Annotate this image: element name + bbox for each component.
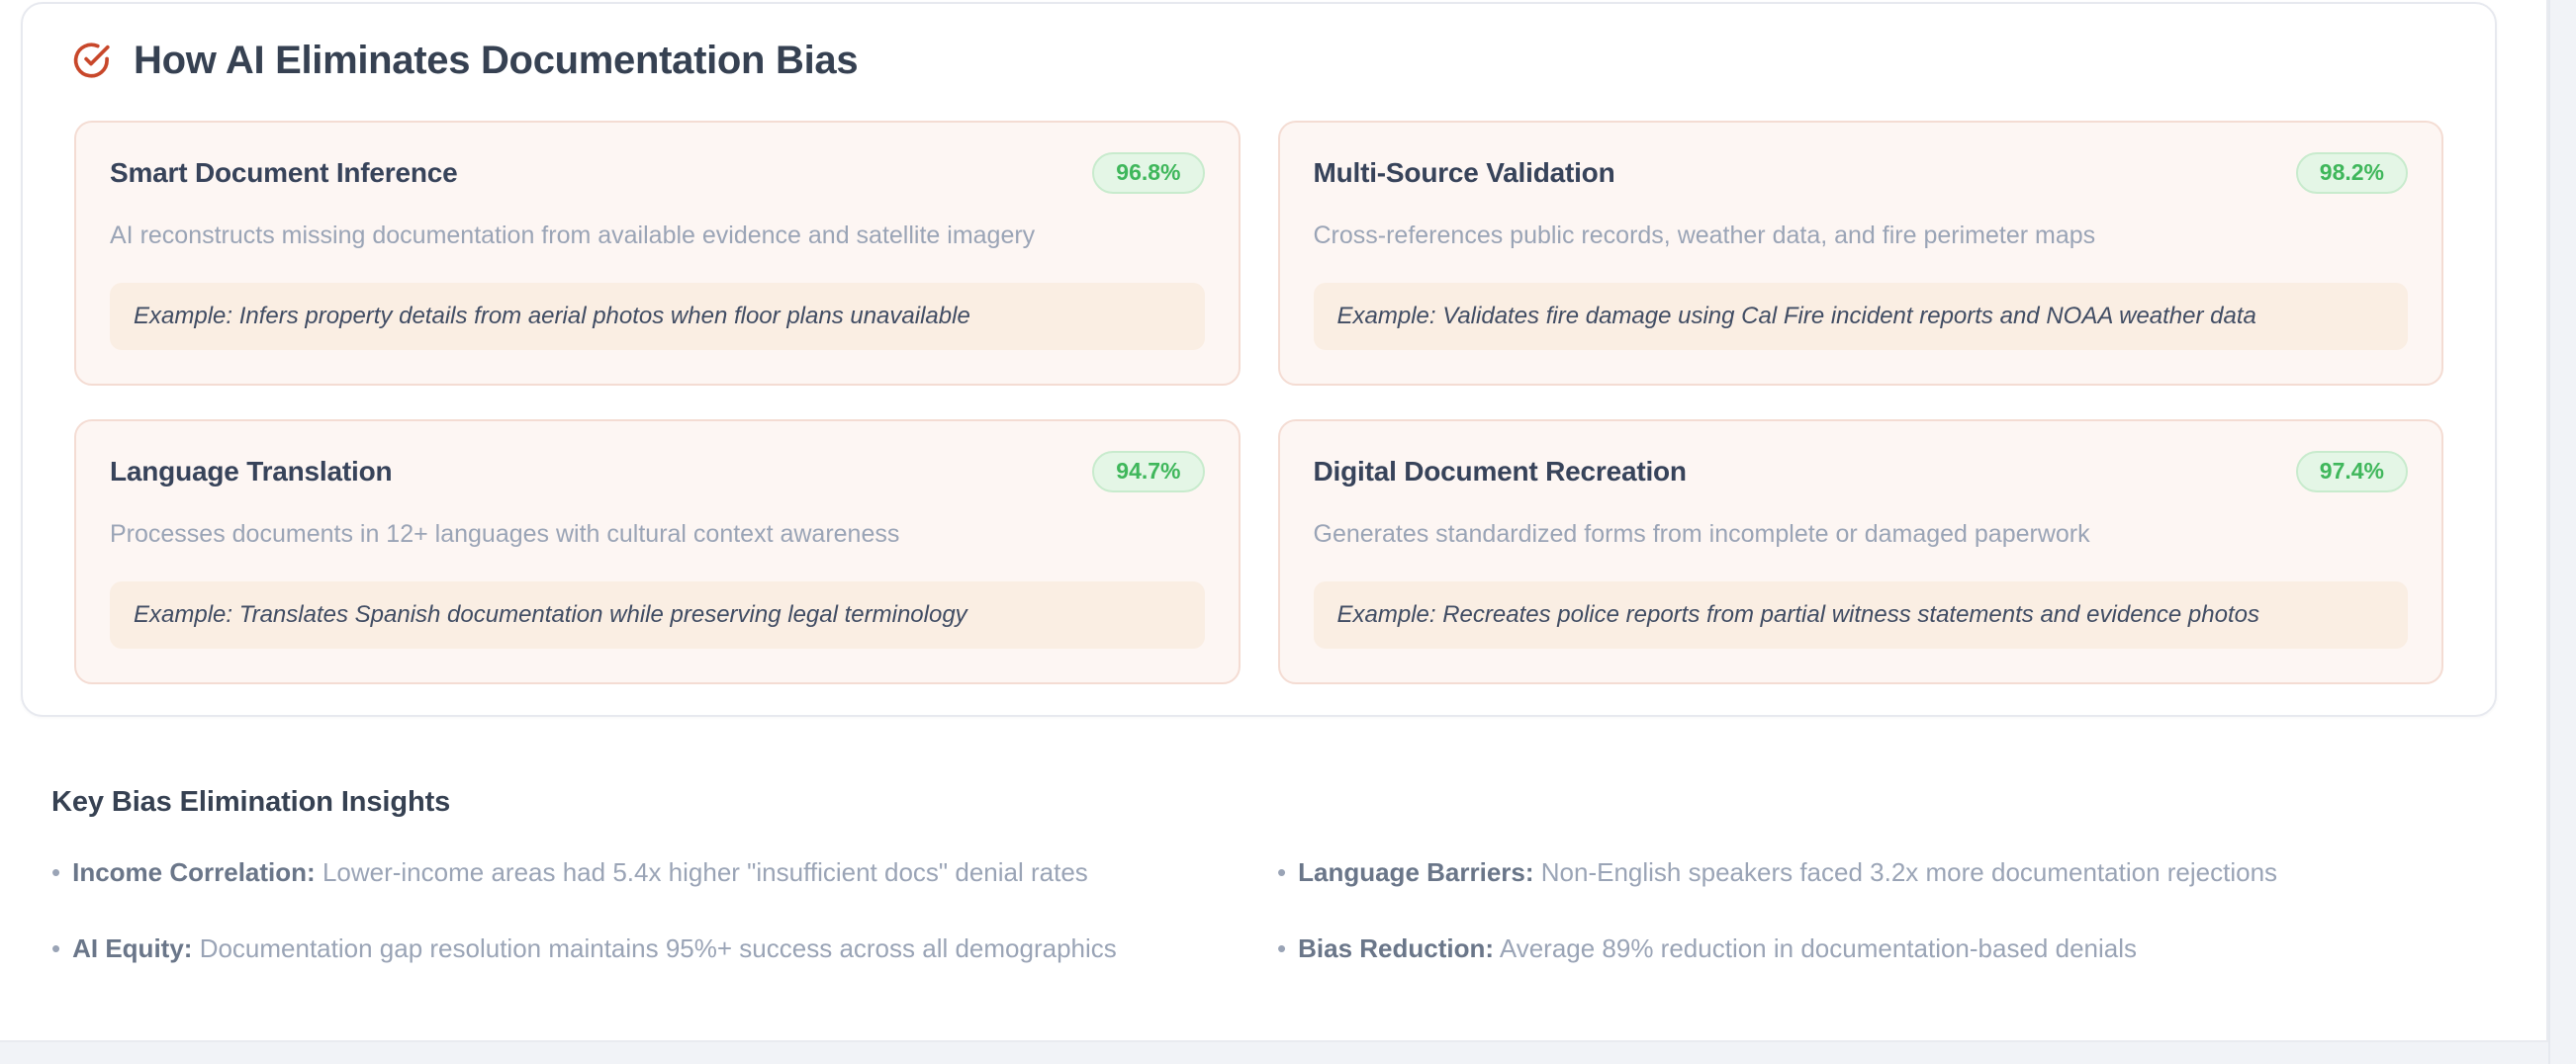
panel-header: How AI Eliminates Documentation Bias	[23, 4, 2495, 83]
insight-body: Bias Reduction: Average 89% reduction in…	[1298, 932, 2137, 965]
insight-detail: Average 89% reduction in documentation-b…	[1500, 933, 2137, 963]
documentation-bias-panel: How AI Eliminates Documentation Bias Sma…	[21, 2, 2497, 717]
capability-title: Smart Document Inference	[110, 156, 458, 190]
capability-example-text: Example: Infers property details from ae…	[134, 301, 1181, 331]
card-header: Multi-Source Validation 98.2%	[1314, 152, 2409, 194]
page-scrollbar-gutter[interactable]	[2548, 0, 2576, 1064]
capability-example-text: Example: Translates Spanish documentatio…	[134, 599, 1181, 630]
capability-example-text: Example: Validates fire damage using Cal…	[1337, 301, 2385, 331]
capability-title: Digital Document Recreation	[1314, 455, 1687, 488]
capability-example-box: Example: Recreates police reports from p…	[1314, 581, 2409, 649]
capability-description: Processes documents in 12+ languages wit…	[110, 518, 1205, 552]
insight-label: Language Barriers:	[1298, 857, 1533, 887]
bullet-icon: •	[1277, 859, 1286, 885]
capability-example-box: Example: Translates Spanish documentatio…	[110, 581, 1205, 649]
insight-label: Income Correlation:	[72, 857, 316, 887]
content-sheet: How AI Eliminates Documentation Bias Sma…	[0, 0, 2548, 1064]
insight-body: Income Correlation: Lower-income areas h…	[72, 856, 1088, 889]
insight-item: • Income Correlation: Lower-income areas…	[51, 856, 1230, 889]
insight-label: AI Equity:	[72, 933, 192, 963]
accuracy-badge: 94.7%	[1092, 451, 1204, 492]
capability-title: Multi-Source Validation	[1314, 156, 1615, 190]
accuracy-badge: 98.2%	[2296, 152, 2408, 194]
accuracy-badge: 96.8%	[1092, 152, 1204, 194]
capability-example-box: Example: Validates fire damage using Cal…	[1314, 283, 2409, 350]
insight-detail: Lower-income areas had 5.4x higher "insu…	[322, 857, 1088, 887]
capability-example-text: Example: Recreates police reports from p…	[1337, 599, 2385, 630]
insights-grid: • Income Correlation: Lower-income areas…	[51, 856, 2455, 964]
bottom-strip	[0, 1042, 2576, 1064]
bullet-icon: •	[1277, 935, 1286, 961]
bullet-icon: •	[51, 859, 60, 885]
capability-description: AI reconstructs missing documentation fr…	[110, 220, 1205, 253]
insight-detail: Documentation gap resolution maintains 9…	[200, 933, 1117, 963]
capability-description: Generates standardized forms from incomp…	[1314, 518, 2409, 552]
insight-body: AI Equity: Documentation gap resolution …	[72, 932, 1117, 965]
insight-detail: Non-English speakers faced 3.2x more doc…	[1541, 857, 2277, 887]
capability-card[interactable]: Smart Document Inference 96.8% AI recons…	[74, 121, 1241, 386]
page-title: How AI Eliminates Documentation Bias	[134, 38, 858, 83]
capability-title: Language Translation	[110, 455, 392, 488]
accuracy-badge: 97.4%	[2296, 451, 2408, 492]
insights-title: Key Bias Elimination Insights	[51, 786, 2455, 819]
capability-card[interactable]: Language Translation 94.7% Processes doc…	[74, 419, 1241, 684]
card-header: Language Translation 94.7%	[110, 451, 1205, 492]
check-circle-icon	[70, 40, 112, 81]
capability-grid: Smart Document Inference 96.8% AI recons…	[23, 83, 2495, 684]
insight-body: Language Barriers: Non-English speakers …	[1298, 856, 2277, 889]
page-root: How AI Eliminates Documentation Bias Sma…	[0, 0, 2576, 1064]
capability-card[interactable]: Multi-Source Validation 98.2% Cross-refe…	[1278, 121, 2444, 386]
insight-item: • AI Equity: Documentation gap resolutio…	[51, 932, 1230, 965]
key-insights-section: Key Bias Elimination Insights • Income C…	[51, 786, 2455, 964]
insight-label: Bias Reduction:	[1298, 933, 1494, 963]
capability-example-box: Example: Infers property details from ae…	[110, 283, 1205, 350]
capability-description: Cross-references public records, weather…	[1314, 220, 2409, 253]
bullet-icon: •	[51, 935, 60, 961]
insight-item: • Bias Reduction: Average 89% reduction …	[1277, 932, 2455, 965]
insight-item: • Language Barriers: Non-English speaker…	[1277, 856, 2455, 889]
card-header: Digital Document Recreation 97.4%	[1314, 451, 2409, 492]
card-header: Smart Document Inference 96.8%	[110, 152, 1205, 194]
capability-card[interactable]: Digital Document Recreation 97.4% Genera…	[1278, 419, 2444, 684]
